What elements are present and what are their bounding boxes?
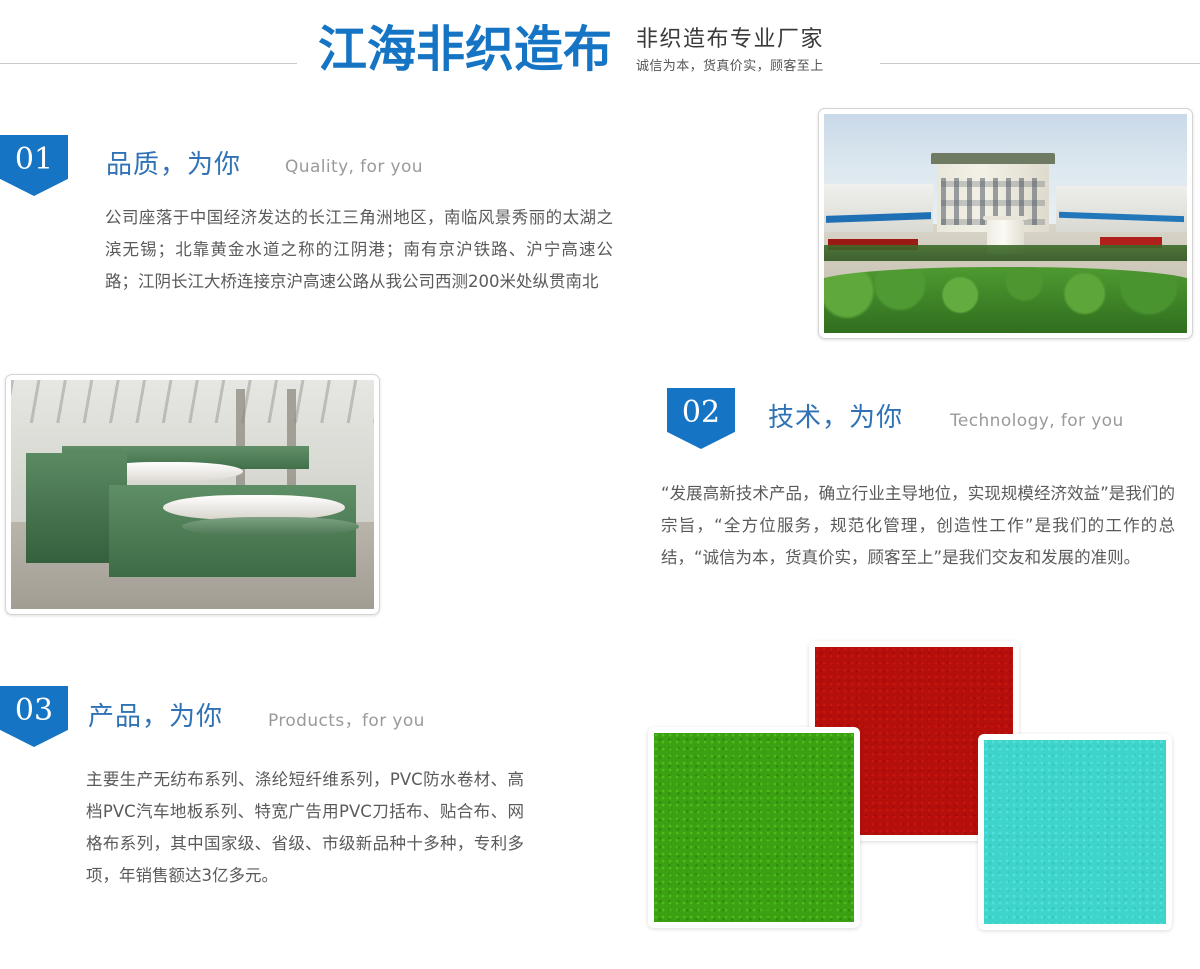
section-body-01: 公司座落于中国经济发达的长江三角洲地区，南临风景秀丽的太湖之滨无锡；北靠黄金水道… — [105, 202, 613, 298]
section-title-01: 品质，为你 — [106, 148, 241, 182]
header-rule-left — [0, 63, 297, 64]
section-title-02: 技术，为你 — [768, 401, 903, 435]
promo-page: 江海非织造布 非织造布专业厂家 诚信为本，货真价实，顾客至上 01 品质，为你 … — [0, 0, 1200, 969]
section-body-03: 主要生产无纺布系列、涤纶短纤维系列，PVC防水卷材、高档PVC汽车地板系列、特宽… — [86, 764, 524, 892]
photo-left-workshop — [824, 184, 933, 232]
section-title-03: 产品，为你 — [88, 700, 223, 734]
brand-tagline-block: 非织造布专业厂家 诚信为本，货真价实，顾客至上 — [636, 26, 846, 77]
brand-slogan: 诚信为本，货真价实，顾客至上 — [636, 57, 846, 77]
green-pvc-leather-swatch — [648, 727, 860, 928]
factory-photo — [818, 108, 1193, 339]
page-header: 江海非织造布 非织造布专业厂家 诚信为本，货真价实，顾客至上 — [0, 0, 1200, 100]
section-number-02: 02 — [667, 392, 735, 434]
photo-hedge — [824, 245, 1187, 260]
photo-treeline — [824, 267, 1187, 333]
photo-fabric-roll-main — [163, 495, 345, 520]
section-number-03: 03 — [0, 690, 68, 732]
cyan-swatch-texture — [984, 740, 1166, 924]
section-subtitle-01: Quality, for you — [285, 154, 423, 180]
header-rule-right — [880, 63, 1200, 64]
machine-photo-image — [11, 380, 374, 609]
cyan-pvc-leather-swatch — [978, 734, 1172, 930]
green-swatch-texture — [654, 733, 854, 922]
factory-photo-image — [824, 114, 1187, 333]
section-subtitle-03: Products，for you — [268, 708, 425, 734]
photo-roof-beams — [11, 380, 374, 423]
photo-drive-roller — [182, 517, 360, 535]
section-subtitle-02: Technology, for you — [950, 408, 1124, 434]
photo-right-workshop — [1056, 186, 1187, 232]
brand-title: 江海非织造布 — [318, 22, 612, 78]
machine-photo — [5, 374, 380, 615]
brand-tagline: 非织造布专业厂家 — [636, 26, 846, 54]
section-number-01: 01 — [0, 139, 68, 181]
section-body-02: “发展高新技术产品，确立行业主导地位，实现规模经济效益”是我们的宗旨，“全方位服… — [661, 478, 1175, 574]
